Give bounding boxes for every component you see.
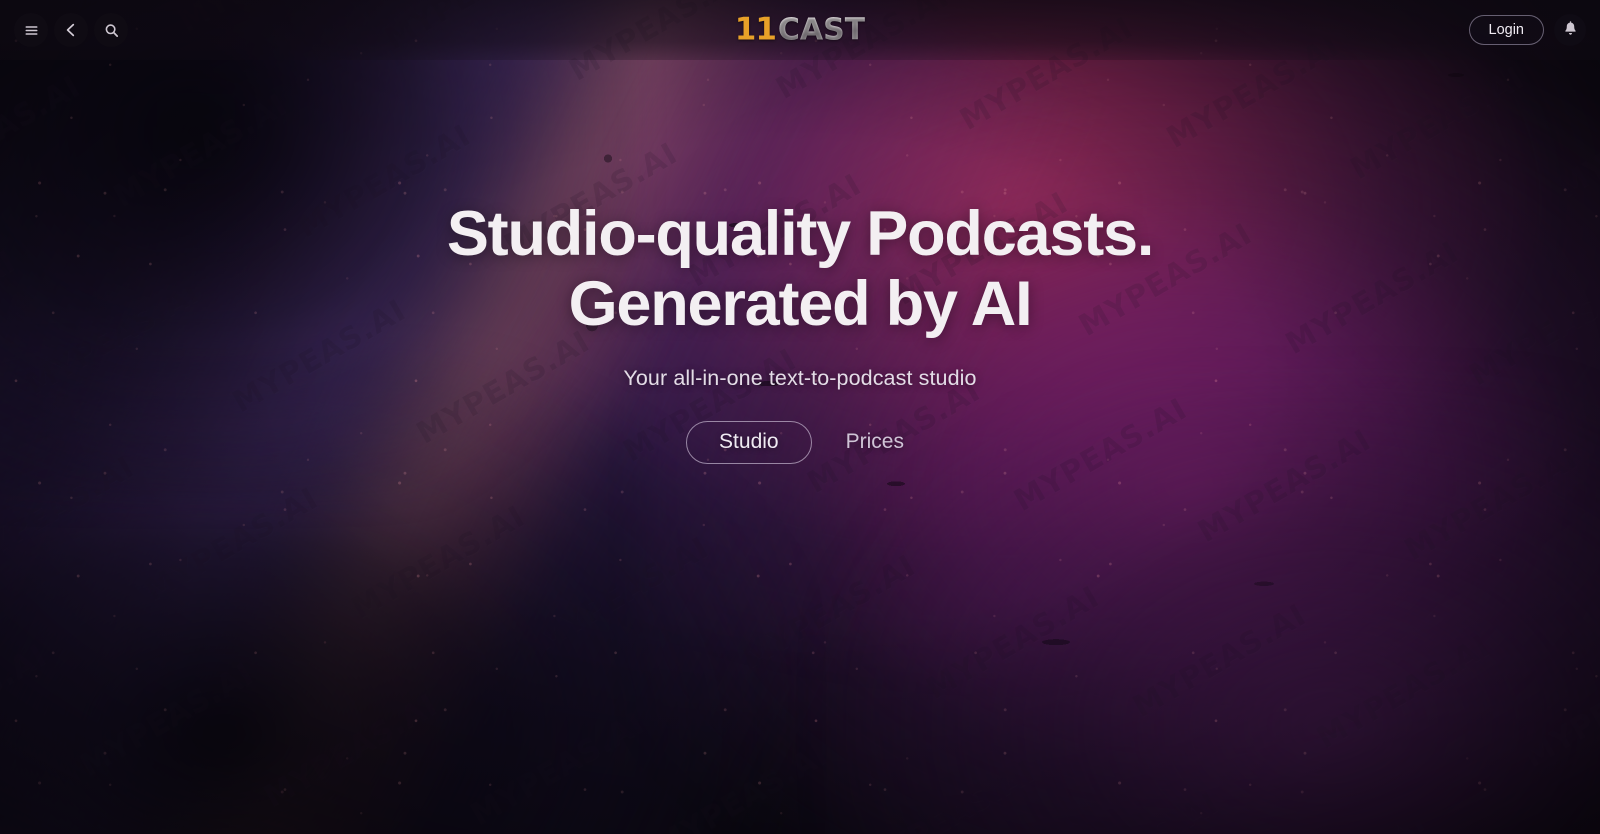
chevron-left-icon bbox=[62, 21, 80, 39]
prices-button[interactable]: Prices bbox=[836, 421, 914, 464]
studio-button[interactable]: Studio bbox=[686, 421, 812, 464]
page-title-line-1: Studio-quality Podcasts. bbox=[447, 200, 1153, 270]
page-subtitle: Your all-in-one text-to-podcast studio bbox=[623, 366, 976, 391]
bell-icon bbox=[1563, 21, 1578, 40]
page-title: Studio-quality Podcasts. Generated by AI bbox=[447, 200, 1153, 340]
header-left-controls bbox=[14, 13, 128, 47]
search-icon bbox=[103, 22, 120, 39]
page-title-line-2: Generated by AI bbox=[447, 270, 1153, 340]
top-navigation-bar: 11 CAST Login bbox=[0, 0, 1600, 60]
header-right-controls: Login bbox=[1469, 14, 1586, 46]
brand-logo[interactable]: 11 CAST bbox=[735, 15, 865, 46]
brand-logo-prefix: 11 bbox=[735, 15, 776, 46]
app-root: MYPEAS.AIMYPEAS.AIMYPEAS.AIMYPEAS.AIMYPE… bbox=[0, 0, 1600, 834]
brand-logo-suffix: CAST bbox=[778, 16, 865, 46]
back-button[interactable] bbox=[54, 13, 88, 47]
login-button[interactable]: Login bbox=[1469, 15, 1544, 45]
hamburger-menu-icon bbox=[23, 22, 40, 39]
notifications-button[interactable] bbox=[1554, 14, 1586, 46]
hero-cta-group: Studio Prices bbox=[686, 421, 914, 464]
menu-button[interactable] bbox=[14, 13, 48, 47]
hero-section: Studio-quality Podcasts. Generated by AI… bbox=[0, 0, 1600, 834]
search-button[interactable] bbox=[94, 13, 128, 47]
